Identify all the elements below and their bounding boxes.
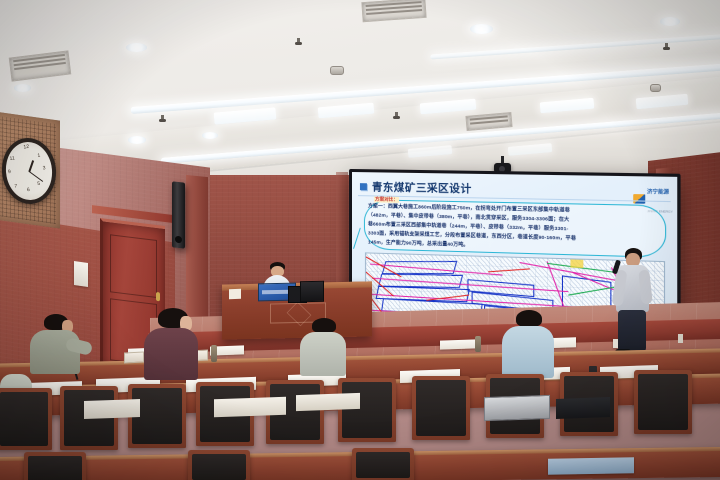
presenter-arm (638, 270, 652, 305)
sprinkler-head (296, 38, 301, 46)
company-logo-text: 济宁能源 (647, 189, 669, 196)
audience-laptop[interactable] (484, 395, 550, 421)
company-logo-icon (633, 194, 645, 204)
sprinkler-head (160, 115, 165, 123)
wall-speaker-column (172, 181, 185, 248)
standing-presenter (612, 248, 656, 360)
audience-chair[interactable] (634, 370, 692, 434)
downlight (660, 17, 680, 26)
table-papers (214, 397, 286, 418)
led-strip-light (430, 34, 720, 60)
audience-member-front-center (140, 308, 202, 386)
audience-chair[interactable] (412, 376, 470, 440)
ac-vent (9, 50, 71, 81)
presenter-trousers (618, 310, 646, 352)
table-papers (548, 457, 634, 475)
table-papers (440, 339, 476, 349)
water-bottle (475, 336, 481, 352)
audience-chair[interactable] (0, 388, 52, 450)
desk-papers (229, 289, 241, 299)
slide-title: 青东煤矿三采区设计 (372, 179, 472, 196)
surface-feature (570, 259, 583, 268)
desk-monitor (300, 281, 324, 302)
audience-laptop[interactable] (556, 397, 610, 419)
downlight (202, 132, 218, 139)
table-papers (84, 399, 140, 419)
audience-member-mid-center (500, 310, 556, 382)
title-bullet-icon (360, 183, 367, 190)
stage-floor-marker (678, 334, 683, 343)
downlight (126, 43, 147, 52)
water-bottle (211, 345, 217, 362)
sprinkler-head (394, 112, 399, 120)
smoke-detector (330, 66, 344, 75)
downlight (470, 24, 493, 34)
sprinkler-head (664, 43, 669, 51)
downlight (14, 84, 31, 92)
audience-chair[interactable] (24, 452, 86, 480)
audience-chair[interactable] (352, 448, 414, 480)
audience-member-front-right-a (298, 318, 348, 382)
audience-chair[interactable] (188, 450, 250, 480)
door-handle[interactable] (156, 292, 160, 301)
wall-notice-sheet (74, 261, 88, 287)
audience-chair[interactable] (338, 378, 396, 442)
table-papers (296, 393, 360, 411)
downlight (128, 136, 146, 144)
ac-vent (361, 0, 426, 22)
conference-room-photo: 12 1 3 5 6 7 9 11 青东煤矿三采区设计 济宁能源 (0, 0, 720, 480)
clock-minute-hand (29, 171, 43, 182)
smoke-detector (650, 84, 661, 92)
callout-label: 方案对比： (374, 196, 399, 203)
